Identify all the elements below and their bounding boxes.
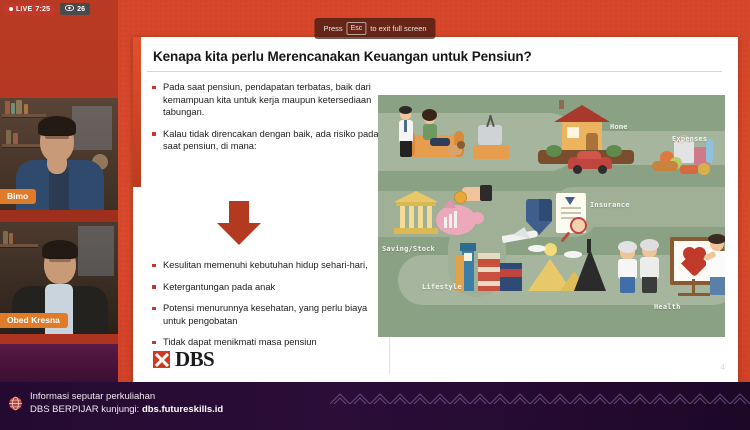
illustration-label-saving: Saving/Stock	[382, 245, 435, 253]
slide-bullets-top: Pada saat pensiun, pendapatan terbatas, …	[151, 81, 383, 162]
bush-icon	[546, 145, 562, 157]
list-item: Ketergantungan pada anak	[151, 281, 387, 294]
shelf-decor	[0, 244, 38, 247]
person-hair-icon	[422, 109, 437, 121]
list-item: Pada saat pensiun, pendapatan terbatas, …	[151, 81, 383, 119]
list-item: Potensi menurunnya kesehatan, yang perlu…	[151, 302, 387, 327]
person-glasses	[45, 135, 69, 139]
bank-roof-icon	[394, 191, 438, 202]
esc-toast-prefix: Press	[323, 24, 342, 33]
globe-icon	[8, 396, 23, 411]
doctor-hair-icon	[708, 234, 725, 244]
slide-accent-bar	[133, 37, 141, 187]
slide-page-number: 4	[721, 363, 725, 372]
participant-name-badge: Obed Kresna	[0, 313, 68, 329]
list-item: Kalau tidak direncakan dengan baik, ada …	[151, 128, 383, 153]
tile-separator	[0, 210, 118, 222]
person-hand	[47, 152, 67, 174]
dbs-logo: DBS	[153, 347, 214, 372]
cloud-icon	[564, 251, 582, 258]
bank-column-icon	[418, 206, 423, 228]
live-dot-icon	[9, 7, 13, 11]
person-hair	[38, 116, 76, 136]
person-tie-icon	[404, 120, 407, 132]
illustration-label-health: Health	[654, 303, 681, 311]
illustration-label-home: Home	[610, 123, 628, 131]
house-window-icon	[567, 127, 579, 138]
piggy-snout-icon	[470, 212, 484, 224]
banner-text: Informasi seputar perkuliahan DBS BERPIJ…	[30, 390, 223, 416]
book-decor	[9, 233, 13, 244]
book-decor	[6, 130, 11, 144]
colosseum-band-icon	[478, 281, 500, 286]
live-timer: 7:25	[35, 6, 50, 13]
chart-bar-icon	[449, 214, 452, 228]
viewer-count-value: 26	[77, 6, 85, 13]
esc-key-badge: Esc	[347, 22, 367, 35]
car-wheel-icon	[573, 165, 582, 174]
banner-pattern-decor	[330, 382, 750, 404]
elderly-legs-icon	[620, 277, 635, 293]
eiffel-spire-icon	[587, 239, 591, 253]
bush-icon	[606, 145, 622, 157]
banner-line-1: Informasi seputar perkuliahan	[30, 390, 223, 403]
book-decor	[5, 101, 10, 114]
participant-video-tile[interactable]: Bimo	[0, 98, 118, 210]
chimney-icon	[559, 100, 564, 109]
board-base-icon	[678, 293, 710, 296]
colosseum-top-icon	[478, 253, 500, 259]
bigben-top-icon	[460, 243, 476, 251]
presentation-slide: Kenapa kita perlu Merencanakan Keuangan …	[133, 37, 738, 382]
book-decor	[3, 231, 8, 244]
magnifier-icon	[570, 217, 587, 234]
sleeve-icon	[480, 185, 492, 201]
person-legs-icon	[430, 138, 450, 146]
list-item: Kesulitan memenuhi kebutuhan hidup sehar…	[151, 259, 387, 272]
bank-column-icon	[400, 206, 405, 228]
television-icon	[478, 125, 502, 145]
meat-icon	[680, 165, 698, 174]
document-line	[561, 212, 581, 214]
building-icon	[500, 263, 522, 291]
shield-shade-icon	[539, 199, 552, 221]
banner-line-2-prefix: DBS BERPIJAR kunjungi:	[30, 404, 142, 415]
car-roof-icon	[577, 151, 601, 159]
illustration-label-expenses: Expenses	[672, 135, 707, 143]
illustration-label-insurance: Insurance	[590, 201, 630, 209]
tv-stand-icon	[473, 145, 509, 159]
elderly-legs-icon	[642, 277, 657, 293]
person-glasses	[49, 258, 71, 262]
book-decor	[16, 100, 22, 114]
shelf-decor	[2, 114, 46, 117]
building-band-icon	[500, 269, 522, 277]
person-hair	[42, 240, 78, 259]
document-line	[561, 207, 581, 209]
banner-url: dbs.futureskills.id	[142, 404, 223, 415]
bank-column-icon	[409, 206, 414, 228]
illustration-label-lifestyle: Lifestyle	[422, 283, 462, 291]
doctor-legs-icon	[710, 277, 725, 295]
clock-icon	[464, 253, 472, 261]
sun-icon	[544, 243, 557, 256]
person-legs-icon	[400, 141, 412, 157]
dbs-wordmark: DBS	[175, 347, 214, 372]
slide-title: Kenapa kita perlu Merencanakan Keuangan …	[153, 49, 532, 64]
colosseum-band-icon	[478, 267, 500, 272]
live-status-bar: LIVE 7:25 26	[4, 3, 90, 15]
elderly-body-icon	[618, 259, 637, 279]
participant-video-tile[interactable]: Obed Kresna	[0, 222, 118, 334]
live-badge: LIVE 7:25	[4, 4, 55, 15]
book-decor	[11, 103, 15, 114]
info-banner: Informasi seputar perkuliahan DBS BERPIJ…	[0, 382, 750, 430]
coin-icon	[454, 191, 467, 204]
cloud-icon	[528, 245, 546, 252]
bank-column-icon	[427, 206, 432, 228]
car-wheel-icon	[598, 165, 607, 174]
chart-bar-icon	[454, 211, 457, 228]
banner-line-2: DBS BERPIJAR kunjungi: dbs.futureskills.…	[30, 403, 223, 416]
tile-footer-gradient	[0, 344, 118, 382]
window-decor	[72, 106, 112, 150]
person-hair-icon	[399, 106, 412, 114]
viewer-count-badge: 26	[60, 3, 90, 15]
elderly-hair-icon	[618, 241, 637, 253]
bank-base-icon	[394, 228, 438, 234]
book-decor	[24, 104, 28, 114]
dbs-diamond-icon	[153, 351, 170, 368]
elderly-body-icon	[640, 257, 659, 279]
elderly-hair-icon	[640, 239, 659, 251]
retirement-planning-illustration: Home Expenses Insurance Saving/Stock Lif…	[378, 95, 725, 337]
participant-name-badge: Bimo	[0, 189, 36, 205]
bread-icon	[652, 161, 678, 171]
live-label: LIVE	[16, 6, 32, 13]
eye-icon	[65, 5, 74, 13]
cheese-icon	[698, 163, 710, 175]
slide-bullets-bottom: Kesulitan memenuhi kebutuhan hidup sehar…	[151, 259, 387, 358]
document-seal-icon	[565, 197, 575, 205]
dog-head-icon	[457, 141, 465, 149]
window-decor	[78, 226, 114, 276]
book-decor	[13, 133, 18, 144]
chart-bar-icon	[444, 217, 447, 228]
title-divider	[147, 71, 722, 72]
exit-fullscreen-toast: Press Esc to exit full screen	[314, 18, 435, 39]
esc-toast-suffix: to exit full screen	[370, 24, 426, 33]
